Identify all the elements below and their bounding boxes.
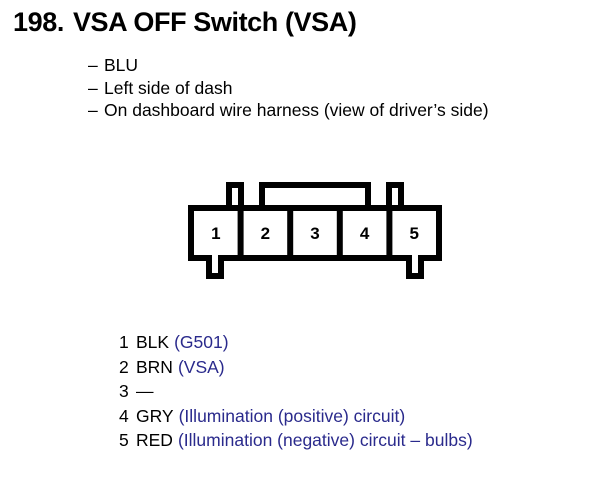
bullet-dash-icon: –	[88, 99, 104, 122]
pin-number: 4	[119, 404, 136, 429]
circuit-description: (Illumination (positive) circuit)	[179, 404, 406, 429]
wire-code: BRN	[136, 355, 173, 380]
description-list: – BLU – Left side of dash – On dashboard…	[88, 54, 489, 122]
description-item: – On dashboard wire harness (view of dri…	[88, 99, 489, 122]
wire-code: RED	[136, 428, 173, 453]
pin-number: 2	[119, 355, 136, 380]
connector-cell-1: 1	[211, 224, 220, 243]
connector-cell-3: 3	[310, 224, 319, 243]
description-item-label: Left side of dash	[104, 77, 232, 100]
pin-number: 1	[119, 330, 136, 355]
pin-legend-row: 4 GRY (Illumination (positive) circuit)	[119, 404, 473, 429]
pin-number: 3	[119, 379, 136, 404]
locking-tab-center	[262, 185, 368, 208]
bullet-dash-icon: –	[88, 54, 104, 77]
locking-tab-left	[229, 185, 241, 208]
pin-legend: 1 BLK (G501) 2 BRN (VSA) 3 — 4 GRY (Illu…	[119, 330, 473, 453]
description-item: – Left side of dash	[88, 77, 489, 100]
description-item-label: On dashboard wire harness (view of drive…	[104, 99, 489, 122]
wire-code: —	[136, 379, 154, 404]
page-title-number: 198.	[13, 7, 64, 37]
pin-legend-row: 1 BLK (G501)	[119, 330, 473, 355]
description-item: – BLU	[88, 54, 489, 77]
wire-code: GRY	[136, 404, 174, 429]
circuit-description: (VSA)	[178, 355, 225, 380]
locking-tab-right	[389, 185, 401, 208]
connector-diagram: 1 2 3 4 5	[182, 176, 448, 284]
pin-legend-row: 5 RED (Illumination (negative) circuit –…	[119, 428, 473, 453]
connector-cell-5: 5	[409, 224, 418, 243]
page-title: 198.VSA OFF Switch (VSA)	[13, 8, 356, 36]
connector-cell-2: 2	[261, 224, 270, 243]
connector-cell-4: 4	[360, 224, 370, 243]
pin-legend-row: 2 BRN (VSA)	[119, 355, 473, 380]
wire-code: BLK	[136, 330, 169, 355]
bullet-dash-icon: –	[88, 77, 104, 100]
description-item-label: BLU	[104, 54, 138, 77]
circuit-description: (G501)	[174, 330, 228, 355]
circuit-description: (Illumination (negative) circuit – bulbs…	[178, 428, 473, 453]
pin-legend-row: 3 —	[119, 379, 473, 404]
page-title-text: VSA OFF Switch (VSA)	[73, 7, 357, 37]
pin-number: 5	[119, 428, 136, 453]
